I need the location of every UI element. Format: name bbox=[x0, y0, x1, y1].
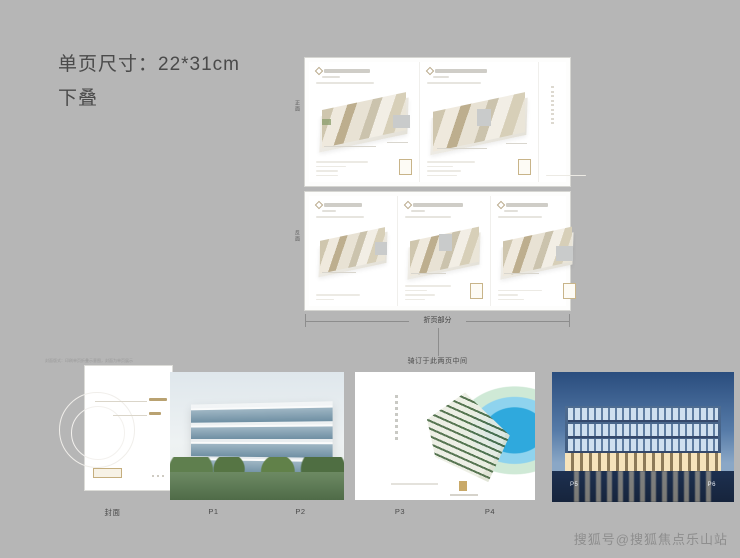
floorplan-render bbox=[498, 224, 576, 280]
diamond-icon bbox=[315, 67, 323, 75]
page-header bbox=[427, 68, 531, 74]
page-desc-placeholder bbox=[316, 216, 364, 218]
thumbnail-label-p5: P5 bbox=[570, 482, 578, 488]
page-subtitle-placeholder bbox=[411, 210, 425, 212]
floorplan-render bbox=[427, 90, 531, 154]
spread-page-front-1[interactable] bbox=[309, 62, 419, 182]
page-footer bbox=[316, 158, 412, 176]
page-subtitle-placeholder bbox=[322, 210, 336, 212]
thumbnail-p5-p6[interactable]: P5 P6 bbox=[552, 372, 734, 502]
page-title-placeholder bbox=[413, 203, 463, 207]
vertical-text-placeholder bbox=[551, 86, 554, 124]
thumbnail-label-p6: P6 bbox=[708, 482, 716, 488]
logo-placeholder bbox=[93, 468, 122, 478]
page-header bbox=[405, 202, 483, 208]
page-desc-placeholder bbox=[498, 216, 542, 218]
dot-decoration-icon bbox=[152, 475, 164, 477]
page-header bbox=[316, 68, 412, 74]
spread-page-back-2[interactable] bbox=[397, 196, 490, 306]
spread-side-label-back: 反面 bbox=[294, 230, 300, 242]
watermark: 搜狐号@搜狐焦点乐山站 bbox=[574, 529, 728, 548]
floorplan-render bbox=[316, 224, 390, 278]
page-title-placeholder bbox=[324, 203, 362, 207]
floorplan-render bbox=[405, 224, 483, 280]
spread-page-front-3[interactable] bbox=[538, 62, 566, 182]
building-daytime-render bbox=[170, 372, 344, 500]
cover-sheet[interactable] bbox=[85, 366, 172, 490]
spread-page-back-1[interactable] bbox=[309, 196, 397, 306]
thumbnail-label-p2: P2 bbox=[257, 507, 344, 516]
page-footer bbox=[316, 291, 390, 300]
site-masterplan-render bbox=[355, 372, 535, 500]
fold-dimension-label: 折页部分 bbox=[305, 314, 570, 328]
cover-note-label: 封面版式：印刷单页折叠示意图，封面为单页展示 bbox=[45, 358, 185, 364]
page-subtitle-placeholder bbox=[504, 210, 518, 212]
floorplan-render bbox=[316, 90, 412, 152]
thumbnail-p1-p2[interactable]: P1 P2 bbox=[170, 372, 344, 500]
spread-page-front-2[interactable] bbox=[419, 62, 538, 182]
page-title-placeholder bbox=[324, 69, 370, 73]
diamond-icon bbox=[497, 201, 505, 209]
callout-leader-line bbox=[438, 328, 439, 356]
seal-icon bbox=[563, 283, 576, 299]
spread-inner-back bbox=[309, 196, 566, 306]
brochure-spread-back[interactable] bbox=[305, 192, 570, 310]
page-subtitle-placeholder bbox=[322, 76, 340, 78]
thumbnail-label-p3: P3 bbox=[355, 507, 445, 516]
page-title-placeholder bbox=[435, 69, 487, 73]
building-dusk-render: P5 P6 bbox=[552, 372, 734, 502]
diamond-icon bbox=[315, 201, 323, 209]
brand-mark-icon bbox=[459, 481, 467, 491]
page-desc-placeholder bbox=[405, 216, 451, 218]
page-header bbox=[498, 202, 576, 208]
seal-icon bbox=[470, 283, 483, 299]
binding-callout: 骑订于此两页中间 bbox=[305, 328, 570, 366]
spread-side-label-top: 正面 bbox=[294, 100, 300, 112]
diamond-icon bbox=[404, 201, 412, 209]
page-desc-placeholder bbox=[427, 82, 481, 84]
thumbnail-p3-p4[interactable]: P3 P4 bbox=[355, 372, 535, 500]
diamond-icon bbox=[426, 67, 434, 75]
seal-icon bbox=[399, 159, 412, 175]
thumbnail-label-p4: P4 bbox=[445, 507, 535, 516]
vertical-text-placeholder bbox=[395, 395, 398, 440]
page-title-placeholder bbox=[506, 203, 548, 207]
page-desc-placeholder bbox=[316, 82, 374, 84]
page-header bbox=[316, 202, 390, 208]
seal-icon bbox=[518, 159, 531, 175]
brochure-spread-front[interactable] bbox=[305, 58, 570, 186]
spread-inner-front bbox=[309, 62, 566, 182]
thumbnail-cover[interactable]: 封面版式：印刷单页折叠示意图，封面为单页展示 封面 bbox=[40, 358, 185, 518]
layout-canvas: 单页尺寸：22*31cm 下叠 正面 bbox=[0, 0, 740, 558]
page-footer bbox=[427, 158, 531, 176]
page-footer bbox=[546, 172, 559, 177]
thumbnail-label-p1: P1 bbox=[170, 507, 257, 516]
fold-dimension-line: 折页部分 bbox=[305, 314, 570, 328]
thumbnail-label-cover: 封面 bbox=[40, 507, 185, 518]
page-subtitle-placeholder bbox=[433, 76, 449, 78]
binding-note-label: 骑订于此两页中间 bbox=[305, 356, 570, 366]
spread-page-back-3[interactable] bbox=[490, 196, 583, 306]
